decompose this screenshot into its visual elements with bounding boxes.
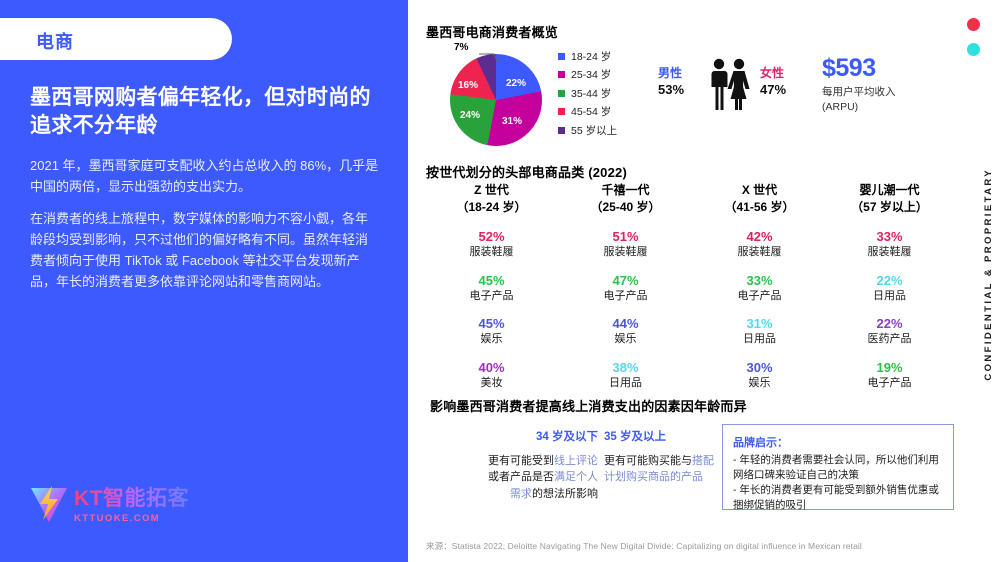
category-item: 31% 日用品	[694, 316, 825, 347]
generation-column-x: X 世代 （41-56 岁） 42% 服装鞋履 33% 电子产品 31% 日用品…	[694, 182, 825, 390]
pie-label-2: 24%	[460, 110, 480, 121]
category-label: 日用品	[824, 289, 955, 303]
pie-label-0: 22%	[506, 78, 526, 89]
category-item: 51% 服装鞋履	[560, 229, 691, 260]
category-label: 娱乐	[560, 332, 691, 346]
generation-column-millennial: 千禧一代 （25-40 岁） 51% 服装鞋履 47% 电子产品 44% 娱乐 …	[560, 182, 691, 390]
pie-label-3: 16%	[458, 80, 478, 91]
age-factor-header: 35 岁及以上	[604, 428, 716, 444]
categories-section-title: 按世代划分的头部电商品类 (2022)	[426, 162, 627, 181]
category-item: 40% 美妆	[426, 360, 557, 391]
legend-label: 45-54 岁	[571, 104, 611, 119]
brand-logo-text: KT智能拓客 KTTUOKE.COM	[74, 482, 189, 524]
category-label: 电子产品	[694, 289, 825, 303]
brand-name: KT智能拓客	[74, 482, 189, 512]
age-factor-column-over35: 35 岁及以上 更有可能购买能与搭配计划购买商品的产品	[604, 428, 716, 486]
generation-column-z: Z 世代 （18-24 岁） 52% 服装鞋履 45% 电子产品 45% 娱乐 …	[426, 182, 557, 390]
category-percent: 51%	[560, 229, 691, 245]
category-item: 30% 娱乐	[694, 360, 825, 391]
category-item: 47% 电子产品	[560, 273, 691, 304]
pie-graphic	[450, 54, 542, 146]
generation-header: 千禧一代 （25-40 岁）	[560, 182, 691, 216]
brand-url: KTTUOKE.COM	[74, 513, 189, 524]
legend-label: 55 岁以上	[571, 123, 617, 138]
category-label: 娱乐	[694, 376, 825, 390]
male-label: 男性	[658, 64, 682, 81]
brand-insight-box: 品牌启示： - 年轻的消费者需要社会认同，所以他们利用网络口碑来验证自己的决策 …	[722, 424, 954, 510]
arpu-caption-line2: (ARPU)	[822, 100, 972, 115]
age-distribution-pie-chart: 22% 31% 24% 16% 7%	[444, 42, 564, 146]
category-item: 33% 电子产品	[694, 273, 825, 304]
category-label: 服装鞋履	[824, 245, 955, 259]
arpu-value: $593	[822, 54, 972, 83]
generation-header: 婴儿潮一代 （57 岁以上）	[824, 182, 955, 216]
pie-leader-line-icon	[478, 51, 500, 65]
category-item: 45% 电子产品	[426, 273, 557, 304]
legend-item: 55 岁以上	[558, 122, 617, 138]
category-percent: 38%	[560, 360, 691, 376]
category-percent: 52%	[426, 229, 557, 245]
generation-columns: Z 世代 （18-24 岁） 52% 服装鞋履 45% 电子产品 45% 娱乐 …	[426, 182, 952, 387]
age-factor-text-2: 或者产品是否	[488, 471, 554, 483]
category-percent: 40%	[426, 360, 557, 376]
overview-section-title: 墨西哥电商消费者概览	[426, 22, 558, 41]
category-item: 19% 电子产品	[824, 360, 955, 391]
arpu-caption-line1: 每用户平均收入	[822, 85, 972, 100]
source-citation: 来源：Statista 2022; Deloitte Navigating Th…	[426, 540, 862, 552]
legend-label: 18-24 岁	[571, 49, 611, 64]
legend-item: 18-24 岁	[558, 48, 617, 64]
category-label: 日用品	[560, 376, 691, 390]
factors-section-title: 影响墨西哥消费者提高线上消费支出的因素因年龄而异	[430, 396, 747, 415]
female-percent: 47%	[760, 82, 786, 97]
arpu-caption: 每用户平均收入 (ARPU)	[822, 85, 972, 115]
legend-swatch-icon	[558, 90, 565, 97]
category-label: 电子产品	[824, 376, 955, 390]
category-item: 52% 服装鞋履	[426, 229, 557, 260]
generation-column-boomer: 婴儿潮一代 （57 岁以上） 33% 服装鞋履 22% 日用品 22% 医药产品…	[824, 182, 955, 390]
legend-swatch-icon	[558, 53, 565, 60]
female-label: 女性	[760, 64, 784, 81]
gender-split: 男性 53% 女性 47%	[658, 56, 798, 116]
generation-age-range: （57 岁以上）	[824, 199, 955, 216]
category-item: 42% 服装鞋履	[694, 229, 825, 260]
category-item: 22% 医药产品	[824, 316, 955, 347]
intro-paragraph-2: 在消费者的线上旅程中，数字媒体的影响力不容小觑，各年龄段均受到影响，只不过他们的…	[30, 208, 380, 292]
category-label: 医药产品	[824, 332, 955, 346]
pie-label-4: 7%	[454, 42, 468, 53]
category-label: 娱乐	[426, 332, 557, 346]
confidential-label: CONFIDENTIAL & PROPRIETARY	[983, 168, 994, 381]
age-factor-header: 34 岁及以下	[486, 428, 598, 444]
category-percent: 22%	[824, 273, 955, 289]
category-percent: 45%	[426, 316, 557, 332]
category-percent: 44%	[560, 316, 691, 332]
category-label: 美妆	[426, 376, 557, 390]
pie-label-1: 31%	[502, 116, 522, 127]
category-label: 服装鞋履	[560, 245, 691, 259]
generation-name: Z 世代	[426, 182, 557, 199]
category-percent: 30%	[694, 360, 825, 376]
category-label: 服装鞋履	[694, 245, 825, 259]
age-factor-body: 更有可能购买能与搭配计划购买商品的产品	[604, 453, 716, 486]
category-label: 电子产品	[426, 289, 557, 303]
dot-red-icon	[967, 18, 980, 31]
legend-item: 25-34 岁	[558, 67, 617, 83]
legend-label: 35-44 岁	[571, 86, 611, 101]
legend-swatch-icon	[558, 108, 565, 115]
brand-logo: KT智能拓客 KTTUOKE.COM	[28, 480, 238, 528]
category-percent: 19%	[824, 360, 955, 376]
category-pill-label: 电商	[36, 28, 74, 54]
male-female-couple-icon	[702, 56, 758, 112]
age-factor-column-under34: 34 岁及以下 更有可能受到线上评论或者产品是否满足个人需求的想法所影响	[486, 428, 598, 502]
category-item: 45% 娱乐	[426, 316, 557, 347]
pie-legend: 18-24 岁 25-34 岁 35-44 岁 45-54 岁 55 岁以上	[558, 48, 617, 141]
category-percent: 31%	[694, 316, 825, 332]
legend-label: 25-34 岁	[571, 67, 611, 82]
age-factor-text-3: 的想法所影响	[532, 488, 598, 500]
category-percent: 22%	[824, 316, 955, 332]
left-blue-panel: 电商 墨西哥网购者偏年轻化，但对时尚的追求不分年龄 2021 年，墨西哥家庭可支…	[0, 0, 408, 562]
category-item: 38% 日用品	[560, 360, 691, 391]
category-pill: 电商	[0, 18, 232, 60]
legend-item: 35-44 岁	[558, 85, 617, 101]
male-percent: 53%	[658, 82, 684, 97]
generation-name: 千禧一代	[560, 182, 691, 199]
legend-swatch-icon	[558, 71, 565, 78]
arpu-stat: $593 每用户平均收入 (ARPU)	[822, 54, 972, 115]
age-factor-text-1: 更有可能受到	[488, 455, 554, 467]
age-factor-body: 更有可能受到线上评论或者产品是否满足个人需求的想法所影响	[486, 453, 598, 502]
category-item: 22% 日用品	[824, 273, 955, 304]
category-label: 电子产品	[560, 289, 691, 303]
insight-line-1: - 年轻的消费者需要社会认同，所以他们利用网络口碑来验证自己的决策	[733, 453, 943, 483]
insight-title: 品牌启示：	[733, 434, 943, 450]
generation-name: 婴儿潮一代	[824, 182, 955, 199]
legend-item: 45-54 岁	[558, 104, 617, 120]
category-label: 日用品	[694, 332, 825, 346]
slide-canvas: 电商 墨西哥网购者偏年轻化，但对时尚的追求不分年龄 2021 年，墨西哥家庭可支…	[0, 0, 1000, 562]
category-label: 服装鞋履	[426, 245, 557, 259]
category-percent: 47%	[560, 273, 691, 289]
category-percent: 45%	[426, 273, 557, 289]
intro-paragraph-1: 2021 年，墨西哥家庭可支配收入约占总收入的 86%，几乎是中国的两倍，显示出…	[30, 155, 380, 197]
lightning-bolt-logo-icon	[28, 482, 70, 524]
category-percent: 33%	[694, 273, 825, 289]
slide-headline: 墨西哥网购者偏年轻化，但对时尚的追求不分年龄	[30, 84, 382, 141]
legend-swatch-icon	[558, 127, 565, 134]
generation-header: Z 世代 （18-24 岁）	[426, 182, 557, 216]
generation-header: X 世代 （41-56 岁）	[694, 182, 825, 216]
category-percent: 33%	[824, 229, 955, 245]
insight-line-2: - 年长的消费者更有可能受到额外销售优惠或捆绑促销的吸引	[733, 483, 943, 513]
generation-age-range: （41-56 岁）	[694, 199, 825, 216]
age-factor-text-1: 更有可能购买能与	[604, 455, 692, 467]
category-percent: 42%	[694, 229, 825, 245]
generation-age-range: （18-24 岁）	[426, 199, 557, 216]
category-item: 33% 服装鞋履	[824, 229, 955, 260]
category-item: 44% 娱乐	[560, 316, 691, 347]
age-factor-highlight-1: 线上评论	[554, 455, 598, 467]
generation-name: X 世代	[694, 182, 825, 199]
generation-age-range: （25-40 岁）	[560, 199, 691, 216]
